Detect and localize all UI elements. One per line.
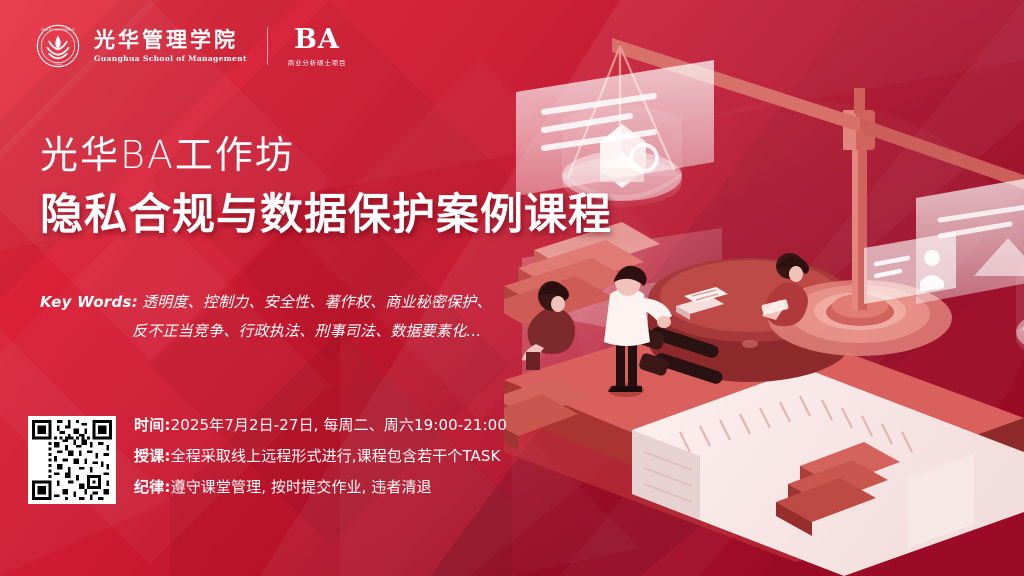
qr-code-icon[interactable] [28, 416, 116, 504]
logo-divider [267, 27, 268, 65]
peking-university-seal-icon: PEKING UNIVERSITY 1898 [36, 24, 80, 68]
poster-root: PEKING UNIVERSITY 1898 光华管理学院 Guanghua S… [0, 0, 1024, 576]
keywords-line-2: 反不正当竞争、行政执法、刑事司法、数据要素化... [40, 317, 492, 346]
school-name-cn: 光华管理学院 [94, 29, 247, 51]
school-name-en: Guanghua School of Management [94, 54, 247, 63]
ba-program-mark: BA [294, 26, 340, 53]
keywords-label: Key Words: [40, 288, 138, 317]
info-value-format: 全程采取线上远程形式进行,课程包含若干个TASK [171, 449, 501, 464]
info-value-time: 2025年7月2日-27日, 每周二、周六19:00-21:00 [171, 418, 507, 433]
info-value-discipline: 遵守课堂管理, 按时提交作业, 违者清退 [171, 480, 432, 495]
page-subtitle: 隐私合规与数据保护案例课程 [40, 190, 612, 242]
keywords-line-1: Key Words: 透明度、控制力、安全性、著作权、商业秘密保护、 [40, 288, 492, 317]
info-key-format: 授课: [134, 449, 171, 464]
title-block: 光华BA工作坊 隐私合规与数据保护案例课程 [40, 134, 612, 241]
info-lines: 时间: 2025年7月2日-27日, 每周二、周六19:00-21:00 授课:… [134, 416, 507, 495]
info-row-discipline: 纪律: 遵守课堂管理, 按时提交作业, 违者清退 [134, 480, 507, 495]
svg-text:PEKING UNIVERSITY: PEKING UNIVERSITY [41, 28, 77, 32]
school-name-block: 光华管理学院 Guanghua School of Management [94, 29, 247, 63]
info-key-time: 时间: [134, 418, 171, 433]
qr-code-matrix [32, 420, 112, 500]
ba-program-logo: BA 商业分析硕士项目 [288, 26, 346, 67]
ba-program-subtitle: 商业分析硕士项目 [288, 57, 346, 67]
keywords-text-2: 反不正当竞争、行政执法、刑事司法、数据要素化... [132, 317, 481, 346]
info-row-time: 时间: 2025年7月2日-27日, 每周二、周六19:00-21:00 [134, 418, 507, 433]
brand-logo-bar: PEKING UNIVERSITY 1898 光华管理学院 Guanghua S… [36, 24, 346, 68]
keywords-block: Key Words: 透明度、控制力、安全性、著作权、商业秘密保护、 反不正当竞… [40, 288, 492, 345]
keywords-text-1: 透明度、控制力、安全性、著作权、商业秘密保护、 [142, 288, 492, 317]
isometric-courtroom-illustration [504, 0, 1024, 576]
info-row-format: 授课: 全程采取线上远程形式进行,课程包含若干个TASK [134, 449, 507, 464]
svg-text:1898: 1898 [54, 62, 62, 66]
info-block: 时间: 2025年7月2日-27日, 每周二、周六19:00-21:00 授课:… [28, 416, 507, 504]
info-key-discipline: 纪律: [134, 480, 171, 495]
page-title: 光华BA工作坊 [40, 134, 612, 178]
